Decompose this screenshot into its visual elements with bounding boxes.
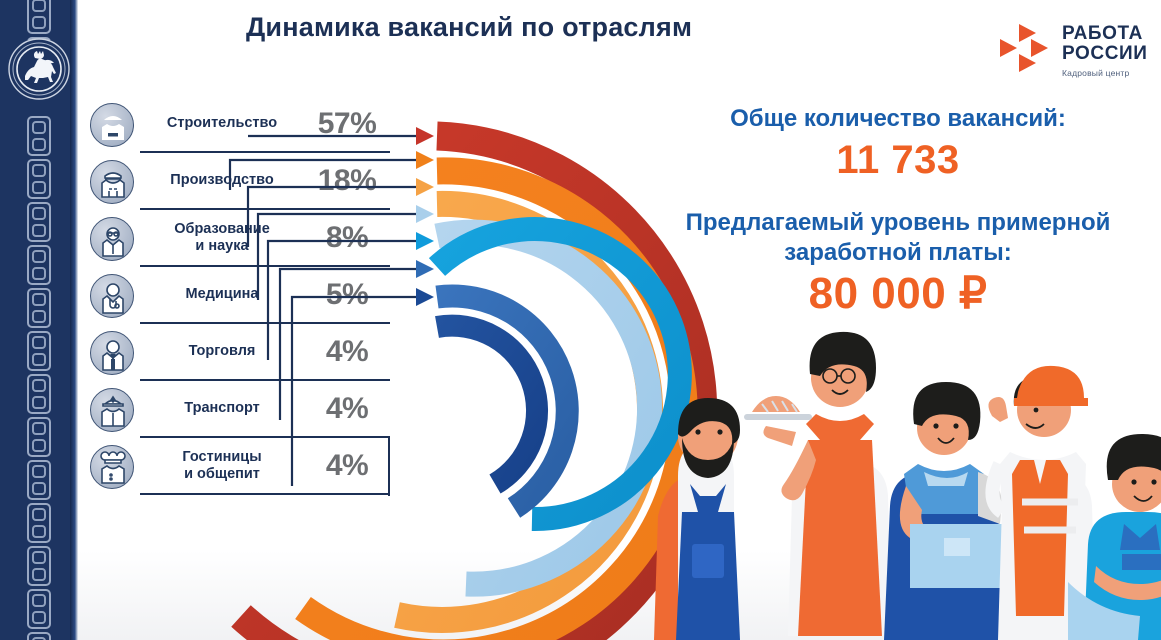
arrowhead-obrazovanie [416, 178, 434, 196]
icon-row [86, 381, 138, 438]
builder-helmet-icon [90, 103, 134, 147]
industry-percent: 8% [304, 221, 390, 255]
chain-link [27, 0, 51, 34]
chain-link [27, 503, 51, 543]
worker-with-document [884, 382, 1008, 640]
table-row[interactable]: Торговля 4% [140, 324, 390, 381]
chain-link [27, 460, 51, 500]
arc-obrazovanie [397, 204, 650, 620]
teacher-icon [90, 217, 134, 261]
doctor-icon [90, 274, 134, 318]
industry-percent: 4% [304, 335, 390, 369]
icon-row [86, 96, 138, 153]
total-vacancies-caption: Обще количество вакансий: [640, 104, 1156, 134]
arrowhead-medicina [416, 205, 434, 223]
total-vacancies-value: 11 733 [640, 136, 1156, 184]
table-row[interactable]: Гостиницы и общепит 4% [140, 438, 390, 495]
arc-gostinicy [437, 326, 537, 484]
chain-ornament-top [26, 0, 52, 40]
chain-link [27, 159, 51, 199]
brand-line-1: РАБОТА [1062, 24, 1148, 44]
brand-logo: РАБОТА РОССИИ Кадровый центр [998, 22, 1148, 78]
baker-woman-with-bread-tray [744, 332, 892, 636]
table-row[interactable]: Производство 18% [140, 153, 390, 210]
industry-label: Строительство [140, 115, 304, 132]
industry-icons-column [86, 96, 138, 495]
industry-percent: 57% [304, 107, 390, 141]
chain-link [27, 245, 51, 285]
bearded-man-in-overalls [654, 398, 740, 640]
arrowhead-stroitelstvo [416, 127, 434, 145]
rabota-rossii-mark-icon [998, 22, 1052, 76]
ornamental-sidebar [0, 0, 78, 640]
stats-panel: Обще количество вакансий: 11 733 Предлаг… [640, 104, 1156, 318]
chain-link [27, 417, 51, 457]
factory-worker-icon [90, 160, 134, 204]
arrowhead-gostinicy [416, 288, 434, 306]
industry-label: Образование и наука [140, 221, 304, 255]
arrowhead-transport [416, 260, 434, 278]
chain-link [27, 116, 51, 156]
table-row[interactable]: Образование и наука 8% [140, 210, 390, 267]
chain-link [27, 632, 51, 640]
brand-line-2: РОССИИ [1062, 44, 1148, 64]
leader-arrowheads [416, 127, 434, 306]
arc-transport [437, 296, 567, 508]
icon-row [86, 438, 138, 495]
chain-link [27, 374, 51, 414]
industry-label-line1: Образование [174, 221, 270, 237]
salary-caption-line2: заработной платы: [640, 238, 1156, 268]
salary-caption-line1: Предлагаемый уровень примерной [640, 208, 1156, 238]
icon-row [86, 210, 138, 267]
tatarstan-coat-of-arms-icon [8, 38, 70, 100]
chain-link [27, 288, 51, 328]
chef-icon [90, 445, 134, 489]
driver-cap-icon [90, 388, 134, 432]
table-right-edge [388, 438, 391, 496]
chain-link [27, 202, 51, 242]
arrowhead-proizvodstvo [416, 151, 434, 169]
industry-percent: 4% [304, 392, 390, 426]
industry-label-line1: Гостиницы [182, 449, 261, 465]
table-row[interactable]: Транспорт 4% [140, 381, 390, 438]
page-title: Динамика вакансий по отраслям [246, 12, 692, 43]
chain-ornament-bottom [26, 116, 52, 640]
table-row[interactable]: Медицина 5% [140, 267, 390, 324]
table-row[interactable]: Строительство 57% [140, 96, 390, 153]
industry-label: Торговля [140, 343, 304, 360]
workers-group-illustration [648, 316, 1161, 640]
brand-subtitle: Кадровый центр [1062, 68, 1148, 78]
icon-row [86, 153, 138, 210]
industry-percent: 18% [304, 164, 390, 198]
industry-table: Строительство 57% Производство 18% Образ… [140, 96, 390, 495]
industry-percent: 5% [304, 278, 390, 312]
salesperson-icon [90, 331, 134, 375]
chain-link [27, 589, 51, 629]
industry-label: Производство [140, 172, 304, 189]
industry-label: Гостиницы и общепит [140, 449, 304, 483]
arc-medicina [437, 232, 650, 584]
sidebar-edge-gradient [70, 0, 78, 640]
salary-value: 80 000 ₽ [640, 270, 1156, 318]
industry-label-line2: и наука [195, 238, 248, 254]
infographic-slide: Динамика вакансий по отраслям РАБОТА РОС… [0, 0, 1161, 640]
icon-row [86, 324, 138, 381]
arrowhead-torgovlya [416, 232, 434, 250]
industry-percent: 4% [304, 449, 390, 483]
industry-label-line2: и общепит [184, 466, 260, 482]
industry-label: Транспорт [140, 400, 304, 417]
industry-label: Медицина [140, 286, 304, 303]
icon-row [86, 267, 138, 324]
chain-link [27, 331, 51, 371]
chain-link [27, 546, 51, 586]
